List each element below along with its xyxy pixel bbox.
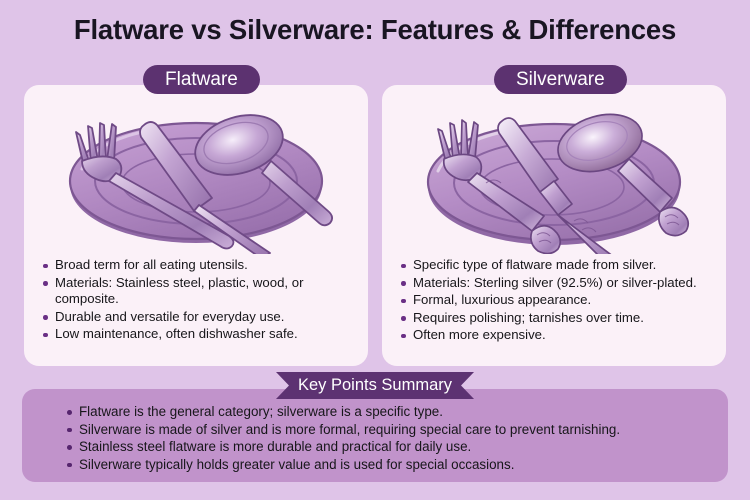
comparison-panel-flatware: Broad term for all eating utensils. Mate…	[24, 85, 368, 366]
list-item: Broad term for all eating utensils.	[41, 257, 358, 274]
panel-badge-flatware: Flatware	[143, 65, 260, 94]
list-item: Stainless steel flatware is more durable…	[64, 438, 708, 456]
key-points-summary-card: Flatware is the general category; silver…	[22, 389, 728, 482]
list-item: Flatware is the general category; silver…	[64, 403, 708, 421]
list-item: Formal, luxurious appearance.	[399, 292, 716, 309]
list-item: Silverware is made of silver and is more…	[64, 421, 708, 439]
summary-banner-label: Key Points Summary	[276, 372, 474, 399]
key-points-summary-banner: Key Points Summary	[276, 372, 474, 399]
page-title: Flatware vs Silverware: Features & Diffe…	[0, 14, 750, 46]
list-item: Specific type of flatware made from silv…	[399, 257, 716, 274]
silverware-plate-illustration	[382, 99, 726, 254]
list-item: Low maintenance, often dishwasher safe.	[41, 326, 358, 343]
flatware-bullet-list: Broad term for all eating utensils. Mate…	[41, 257, 358, 344]
comparison-panel-silverware: Specific type of flatware made from silv…	[382, 85, 726, 366]
flatware-plate-illustration	[24, 99, 368, 254]
list-item: Often more expensive.	[399, 327, 716, 344]
silverware-bullet-list: Specific type of flatware made from silv…	[399, 257, 716, 345]
summary-bullet-list: Flatware is the general category; silver…	[64, 403, 708, 473]
list-item: Materials: Stainless steel, plastic, woo…	[41, 275, 358, 308]
list-item: Durable and versatile for everyday use.	[41, 309, 358, 326]
list-item: Silverware typically holds greater value…	[64, 456, 708, 474]
panel-badge-silverware: Silverware	[494, 65, 627, 94]
list-item: Materials: Sterling silver (92.5%) or si…	[399, 275, 716, 292]
list-item: Requires polishing; tarnishes over time.	[399, 310, 716, 327]
